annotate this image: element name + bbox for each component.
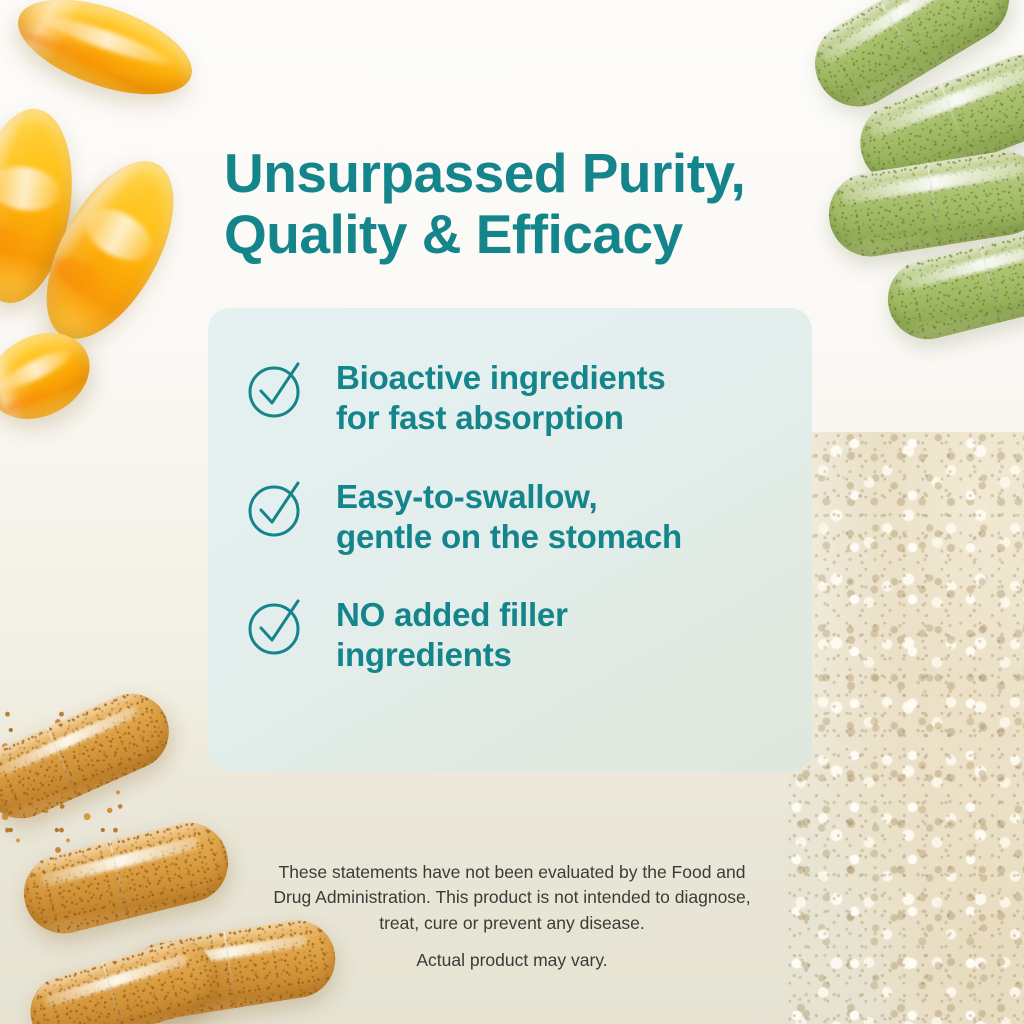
- fda-disclaimer: These statements have not been evaluated…: [212, 860, 812, 938]
- list-item: NO added filler ingredients: [244, 591, 786, 676]
- benefits-card: Bioactive ingredients for fast absorptio…: [208, 308, 812, 772]
- page-title: Unsurpassed Purity, Quality & Efficacy: [224, 143, 824, 266]
- product-variation-note: Actual product may vary.: [212, 950, 812, 971]
- benefit-label: Bioactive ingredients for fast absorptio…: [336, 354, 666, 439]
- list-item: Easy-to-swallow, gentle on the stomach: [244, 473, 786, 558]
- check-circle-icon: [244, 356, 310, 422]
- list-item: Bioactive ingredients for fast absorptio…: [244, 354, 786, 439]
- powder-dust-specks: [800, 440, 920, 560]
- protein-powder-mound: [786, 432, 1024, 1024]
- check-circle-icon: [244, 475, 310, 541]
- benefits-list: Bioactive ingredients for fast absorptio…: [244, 354, 786, 676]
- benefit-label: Easy-to-swallow, gentle on the stomach: [336, 473, 682, 558]
- promo-image-canvas: Unsurpassed Purity, Quality & Efficacy B…: [0, 0, 1024, 1024]
- benefit-label: NO added filler ingredients: [336, 591, 568, 676]
- check-circle-icon: [244, 593, 310, 659]
